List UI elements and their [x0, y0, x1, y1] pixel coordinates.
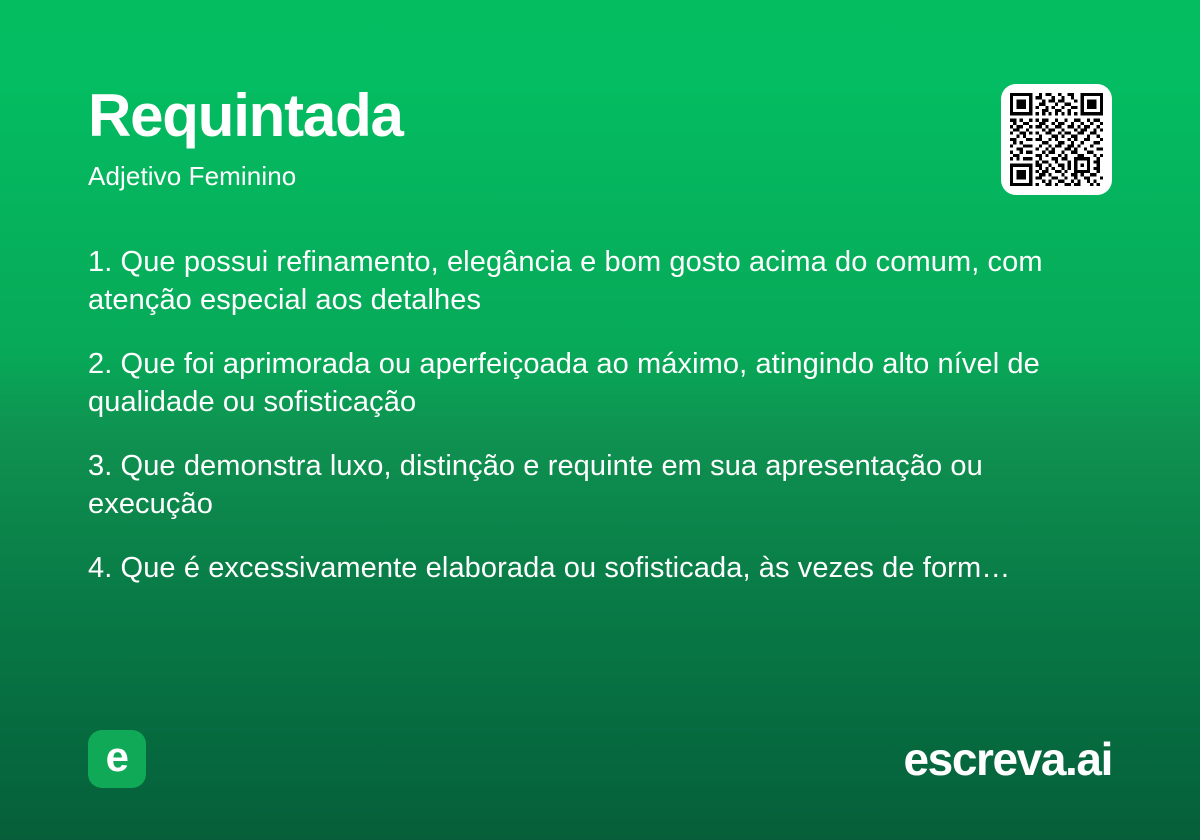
definition-item: 1. Que possui refinamento, elegância e b… [88, 244, 1083, 320]
definitions-list: 1. Que possui refinamento, elegância e b… [88, 244, 1083, 588]
definition-item: 4. Que é excessivamente elaborada ou sof… [88, 550, 1083, 588]
card-header: Requintada Adjetivo Feminino [88, 84, 1112, 195]
definition-item: 2. Que foi aprimorada ou aperfeiçoada ao… [88, 346, 1083, 422]
definition-card: Requintada Adjetivo Feminino [0, 0, 1200, 840]
definition-item: 3. Que demonstra luxo, distinção e requi… [88, 448, 1083, 524]
brand-name: escreva.ai [903, 736, 1112, 782]
logo-letter: e [106, 736, 129, 778]
escreva-logo-icon: e [88, 730, 146, 788]
card-footer: e escreva.ai [88, 730, 1112, 788]
qr-code-icon[interactable] [1001, 84, 1112, 195]
page-title: Requintada [88, 86, 403, 146]
word-class-label: Adjetivo Feminino [88, 162, 403, 191]
headings-group: Requintada Adjetivo Feminino [88, 84, 403, 191]
